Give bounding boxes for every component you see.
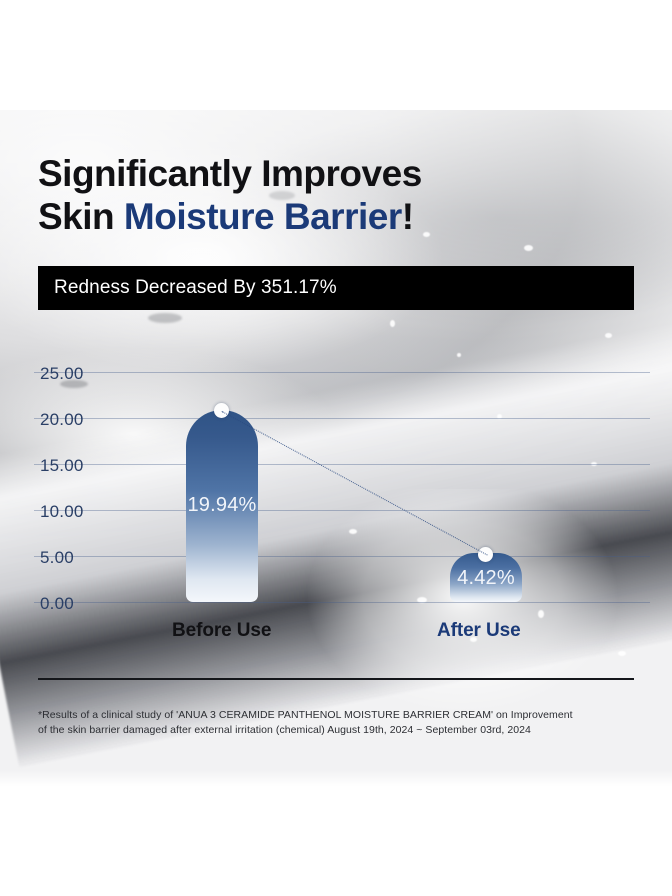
page-title: Significantly Improves Skin Moisture Bar… xyxy=(38,152,598,238)
y-tick-0: 0.00 xyxy=(40,594,74,614)
promo-graphic: Significantly Improves Skin Moisture Bar… xyxy=(0,0,672,896)
y-tick-25: 25.00 xyxy=(40,364,84,384)
y-tick-10: 10.00 xyxy=(40,502,84,522)
headline-line-2-end: ! xyxy=(402,196,414,237)
bar-value-before-use: 19.94% xyxy=(186,494,258,517)
footnote-line-2: of the skin barrier damaged after extern… xyxy=(38,723,638,738)
headline-line-1: Significantly Improves xyxy=(38,153,422,194)
result-banner: Redness Decreased By 351.17% xyxy=(38,266,634,310)
footnote: *Results of a clinical study of 'ANUA 3 … xyxy=(38,708,638,738)
category-label-before-use: Before Use xyxy=(172,620,271,642)
footnote-line-1: *Results of a clinical study of 'ANUA 3 … xyxy=(38,708,638,723)
headline-line-2-plain: Skin xyxy=(38,196,124,237)
chart-gridlines xyxy=(34,350,650,690)
bar-value-after-use: 4.42% xyxy=(450,567,522,590)
bar-chart: 25.00 20.00 15.00 10.00 5.00 0.00 19.94%… xyxy=(0,350,672,690)
category-label-after-use: After Use xyxy=(437,620,521,642)
y-tick-5: 5.00 xyxy=(40,548,74,568)
y-tick-15: 15.00 xyxy=(40,456,84,476)
y-tick-20: 20.00 xyxy=(40,410,84,430)
result-banner-text: Redness Decreased By 351.17% xyxy=(54,277,337,299)
section-divider xyxy=(38,678,634,680)
headline-line-2-highlight: Moisture Barrier xyxy=(124,196,402,237)
bar-before-use: 19.94% xyxy=(186,410,258,602)
